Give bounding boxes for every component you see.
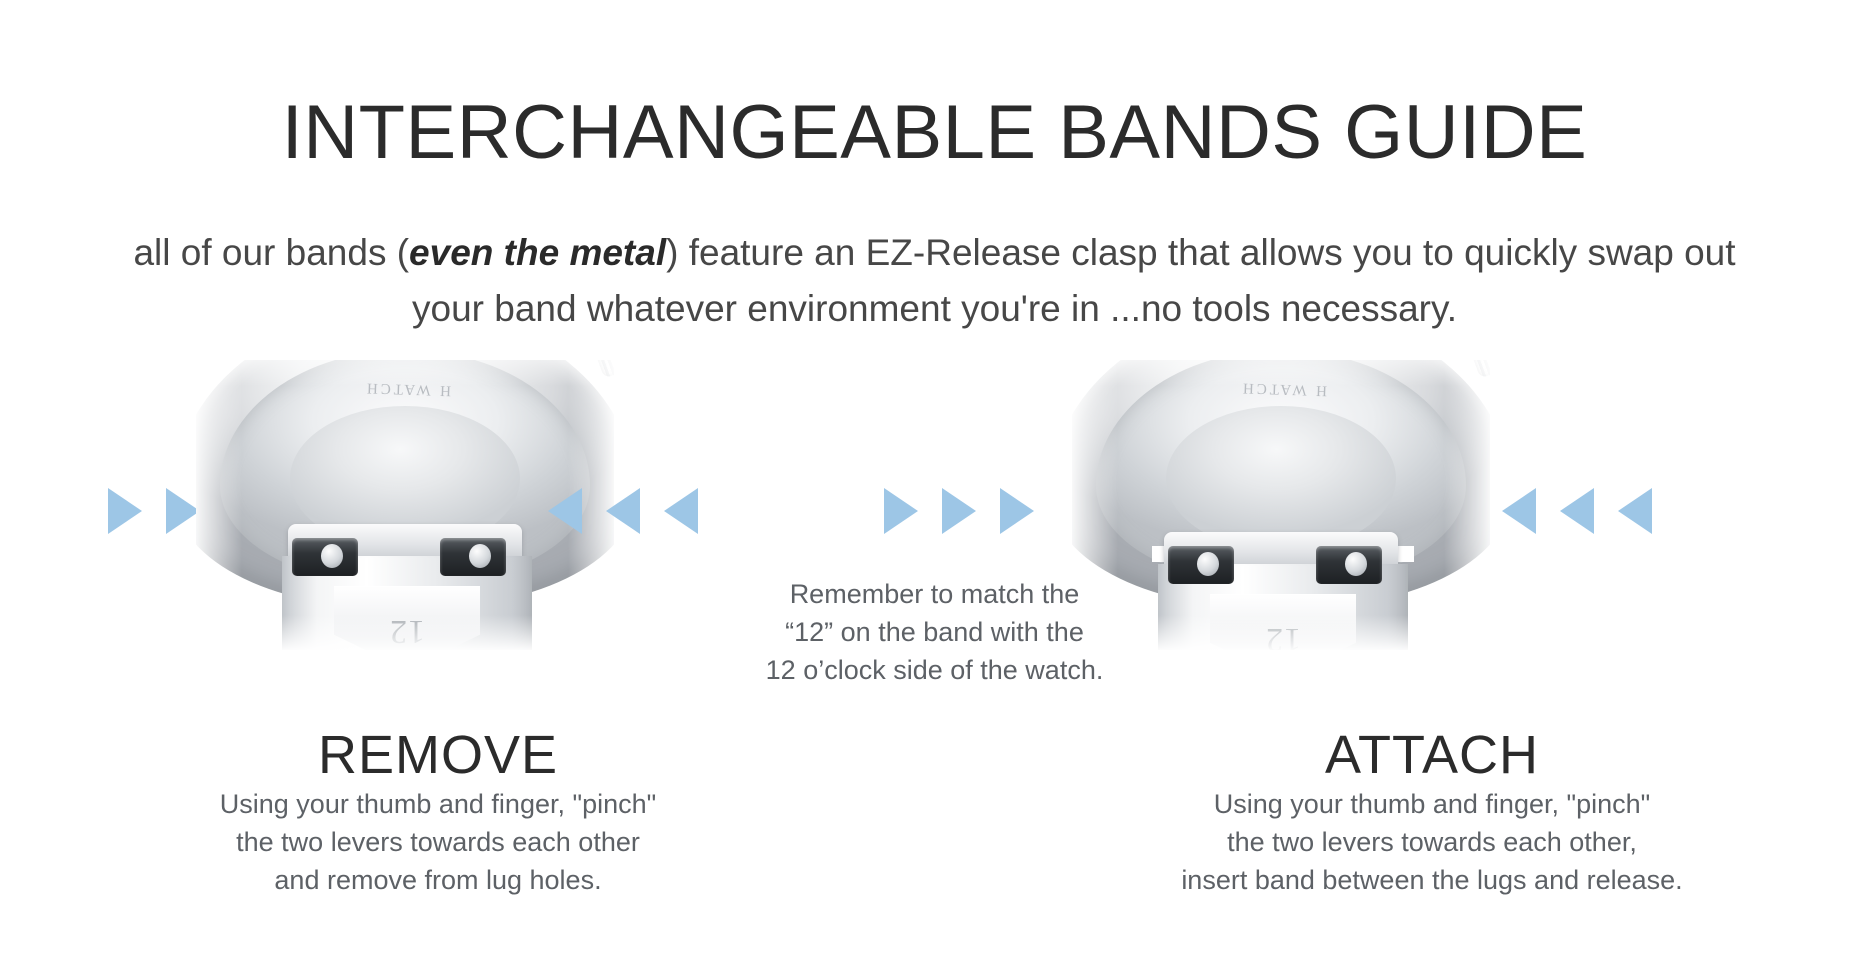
- intro-text-part1: all of our bands (: [133, 232, 409, 273]
- band-lever-left: [1168, 546, 1234, 584]
- step-title-attach: ATTACH: [1072, 723, 1792, 787]
- intro-paragraph: all of our bands (even the metal) featur…: [115, 225, 1755, 337]
- arrow-left-icon: [1560, 488, 1594, 534]
- bands-guide-page: INTERCHANGEABLE BANDS GUIDE all of our b…: [0, 0, 1869, 977]
- center-note: Remember to match the “12” on the band w…: [715, 575, 1155, 689]
- arrow-right-icon: [1000, 488, 1034, 534]
- watch-crown: [591, 360, 614, 378]
- step-desc-line-3: insert band between the lugs and release…: [1181, 865, 1682, 895]
- step-panel-remove: watch H WATCH 12: [78, 360, 798, 650]
- arrow-left-icon: [1618, 488, 1652, 534]
- attach-arrows-outer: [884, 488, 1034, 534]
- lever-pin-icon: [321, 544, 343, 568]
- attach-arrows-inner: [1502, 488, 1652, 534]
- arrow-left-icon: [606, 488, 640, 534]
- watch-crown: [1467, 360, 1490, 378]
- lever-pin-icon: [1197, 552, 1219, 576]
- arrow-right-icon: [884, 488, 918, 534]
- step-desc-line-2: the two levers towards each other: [236, 827, 640, 857]
- lever-pin-icon: [1345, 552, 1367, 576]
- attach-illustration: watch H WATCH 12: [1072, 360, 1792, 650]
- lever-pin-icon: [469, 544, 491, 568]
- step-desc-line-1: Using your thumb and finger, "pinch": [220, 789, 656, 819]
- band-12-marking: 12: [1265, 620, 1301, 650]
- remove-arrows-inner: [548, 488, 698, 534]
- center-note-line-2: “12” on the band with the: [785, 617, 1084, 647]
- band-12-marking: 12: [389, 612, 425, 650]
- arrow-right-icon: [166, 488, 200, 534]
- intro-emphasis: even the metal: [409, 232, 666, 273]
- arrow-left-icon: [664, 488, 698, 534]
- watch-caseback-dial: [1166, 406, 1395, 551]
- remove-illustration: watch H WATCH 12: [78, 360, 798, 650]
- step-desc-line-2: the two levers towards each other,: [1227, 827, 1637, 857]
- center-note-line-3: 12 o’clock side of the watch.: [766, 655, 1104, 685]
- arrow-right-icon: [942, 488, 976, 534]
- band-lever-left: [292, 538, 358, 576]
- step-desc-line-1: Using your thumb and finger, "pinch": [1214, 789, 1650, 819]
- center-note-line-1: Remember to match the: [790, 579, 1080, 609]
- step-description-attach: Using your thumb and finger, "pinch" the…: [1052, 785, 1812, 899]
- step-description-remove: Using your thumb and finger, "pinch" the…: [58, 785, 818, 899]
- step-title-remove: REMOVE: [78, 723, 798, 787]
- arrow-left-icon: [548, 488, 582, 534]
- band-lever-right: [1316, 546, 1382, 584]
- arrow-left-icon: [1502, 488, 1536, 534]
- arrow-right-icon: [108, 488, 142, 534]
- step-desc-line-3: and remove from lug holes.: [274, 865, 601, 895]
- band-lever-right: [440, 538, 506, 576]
- step-panel-attach: watch H WATCH 12: [1072, 360, 1792, 650]
- page-title: INTERCHANGEABLE BANDS GUIDE: [0, 87, 1869, 179]
